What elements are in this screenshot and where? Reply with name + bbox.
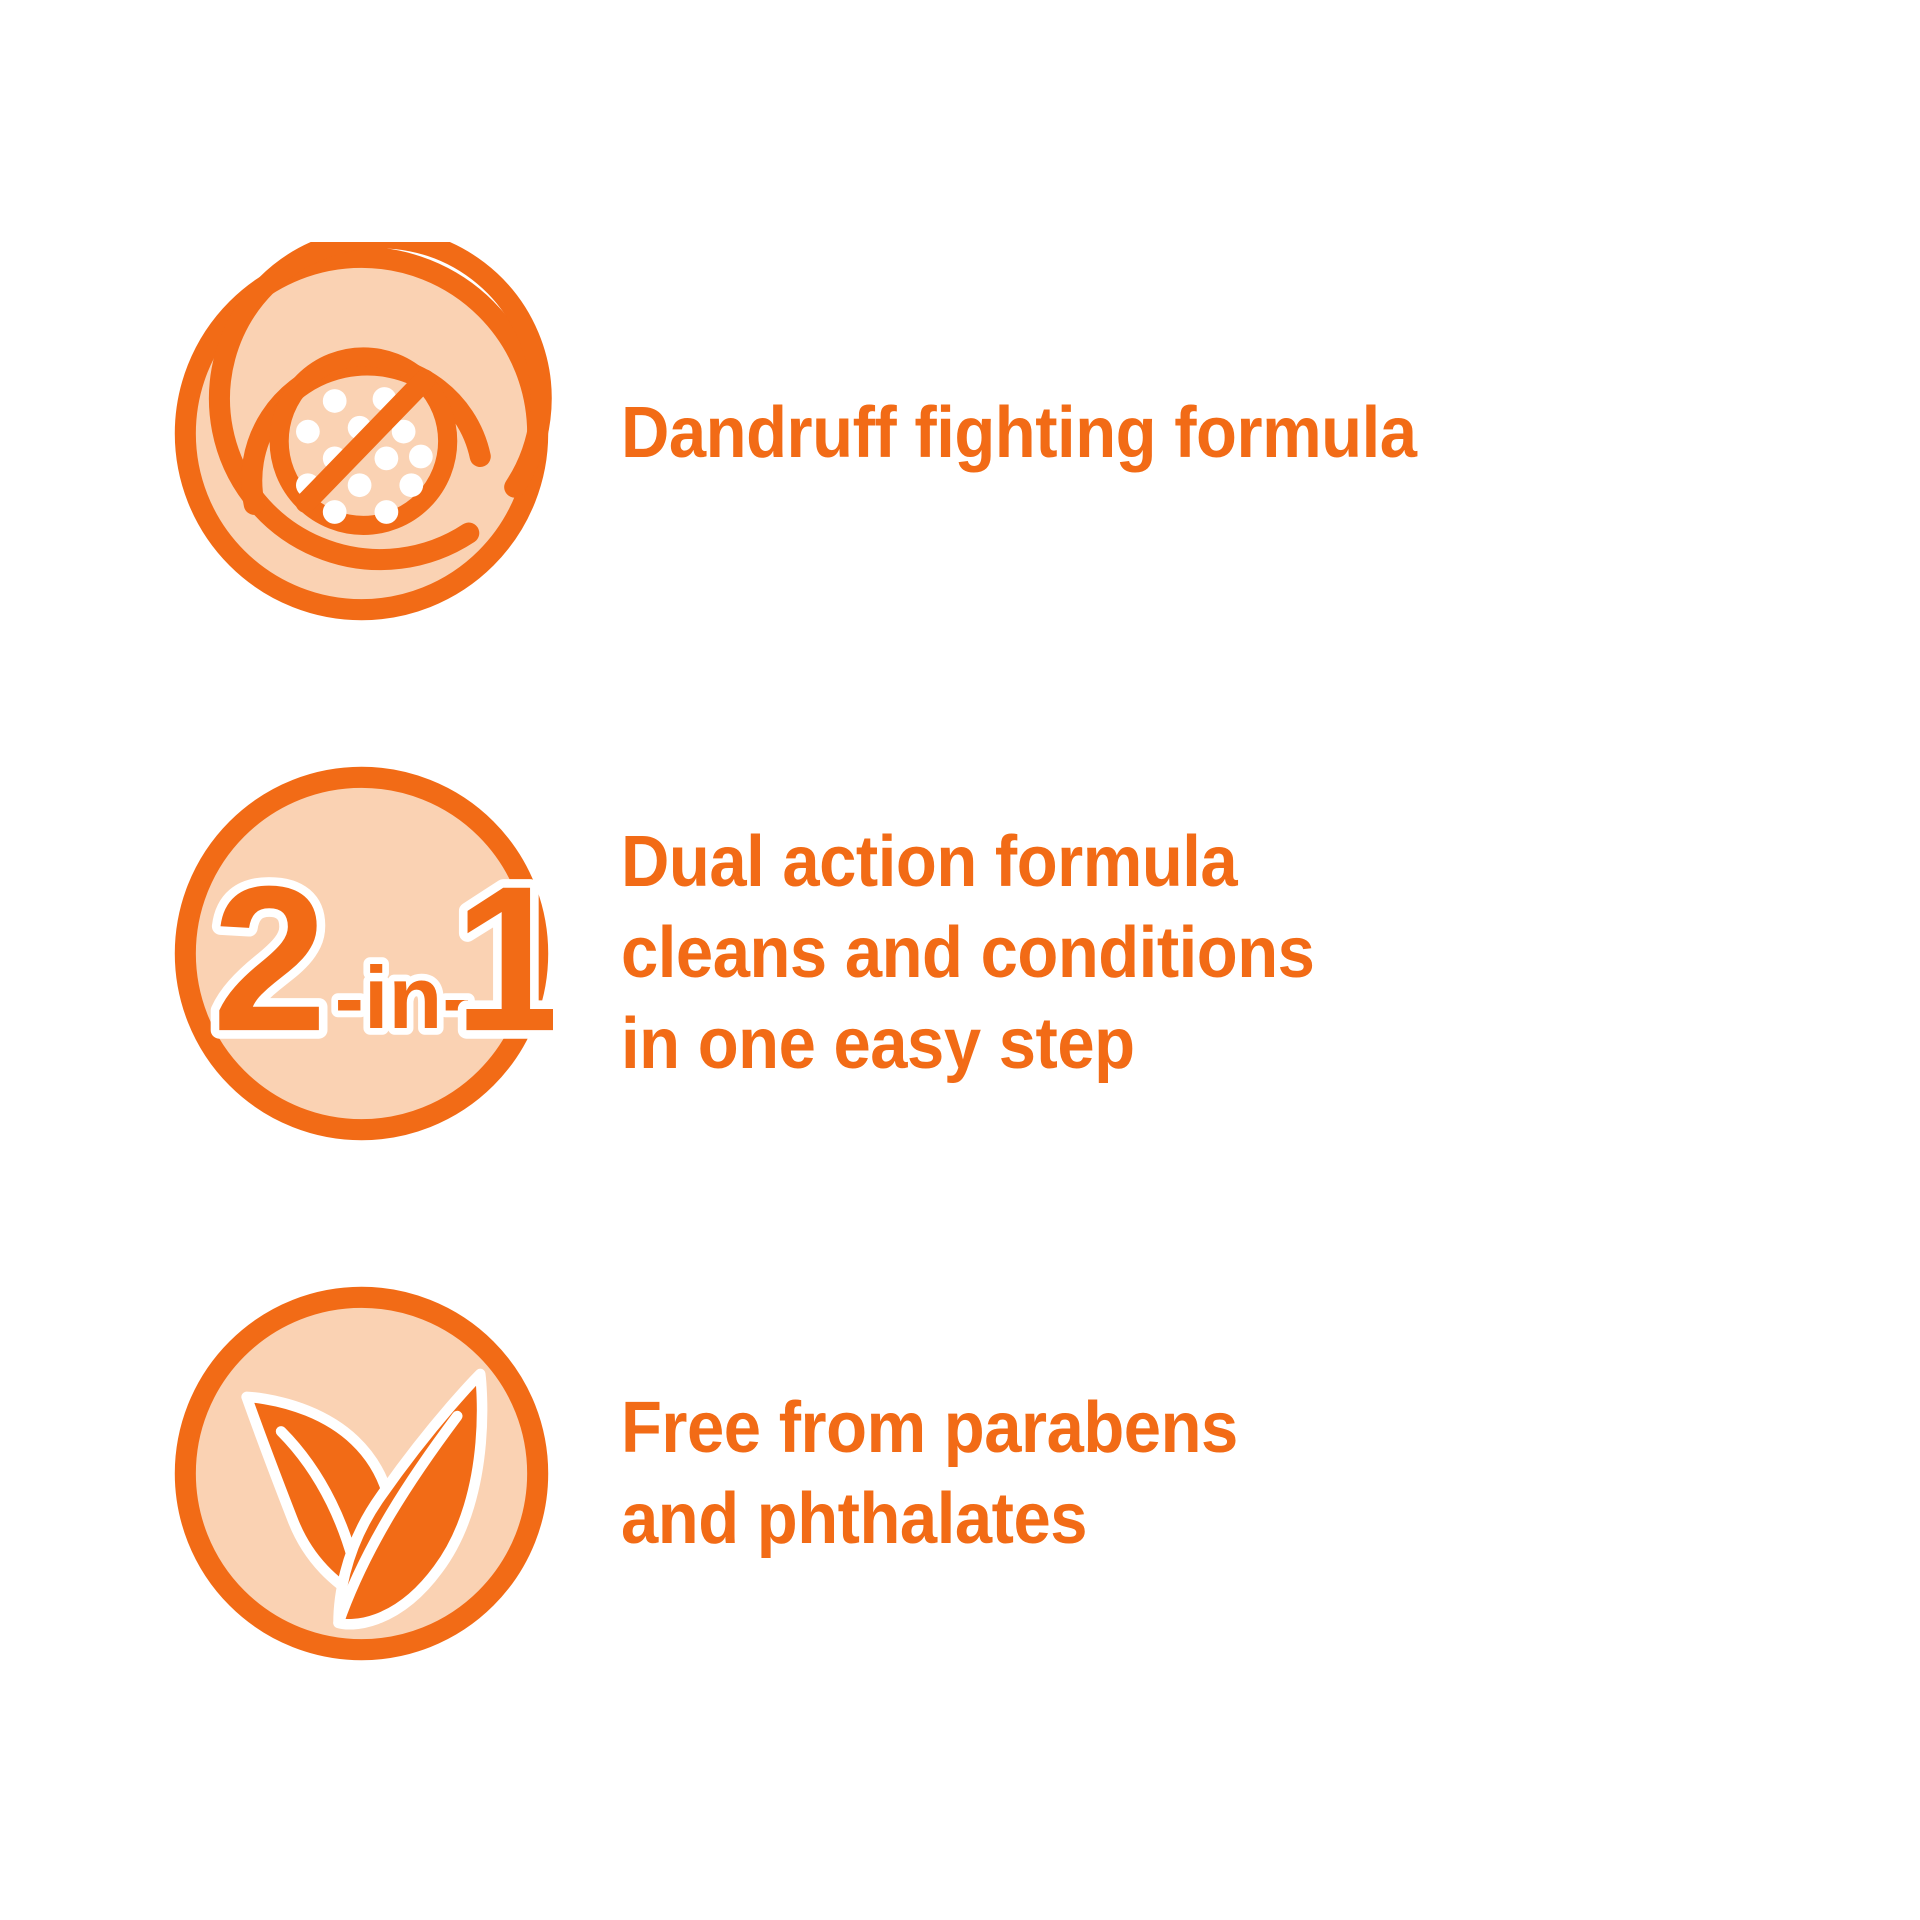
benefits-board: Dandruff fighting formula 2 -in- 1 Dual … (0, 0, 1920, 1920)
one-glyph: 1 (453, 843, 553, 1074)
icon-container: 2 -in- 1 (170, 762, 560, 1145)
leaf-icon (170, 1282, 553, 1665)
feature-text-dandruff-fighting: Dandruff fighting formula (560, 388, 1476, 479)
icon-container (170, 242, 560, 625)
feature-text-free-from: Free from parabens and phthalates (560, 1383, 1284, 1564)
two-in-one-icon: 2 -in- 1 (170, 762, 553, 1145)
feature-line: Dandruff fighting formula (621, 388, 1416, 479)
feature-row-free-from: Free from parabens and phthalates (170, 1282, 1284, 1665)
feature-row-dual-action: 2 -in- 1 Dual action formula cleans and … (170, 762, 1367, 1145)
feature-row-dandruff-fighting: Dandruff fighting formula (170, 242, 1476, 625)
feature-text-dual-action: Dual action formula cleans and condition… (560, 817, 1367, 1089)
feature-line: Free from parabens (621, 1383, 1238, 1474)
two-glyph: 2 (212, 843, 327, 1074)
no-dandruff-icon (170, 242, 553, 625)
feature-line: and phthalates (621, 1474, 1238, 1565)
feature-line: Dual action formula (621, 817, 1314, 908)
icon-container (170, 1282, 560, 1665)
feature-line: in one easy step (621, 999, 1314, 1090)
in-glyph: -in- (335, 948, 472, 1047)
feature-line: cleans and conditions (621, 908, 1314, 999)
